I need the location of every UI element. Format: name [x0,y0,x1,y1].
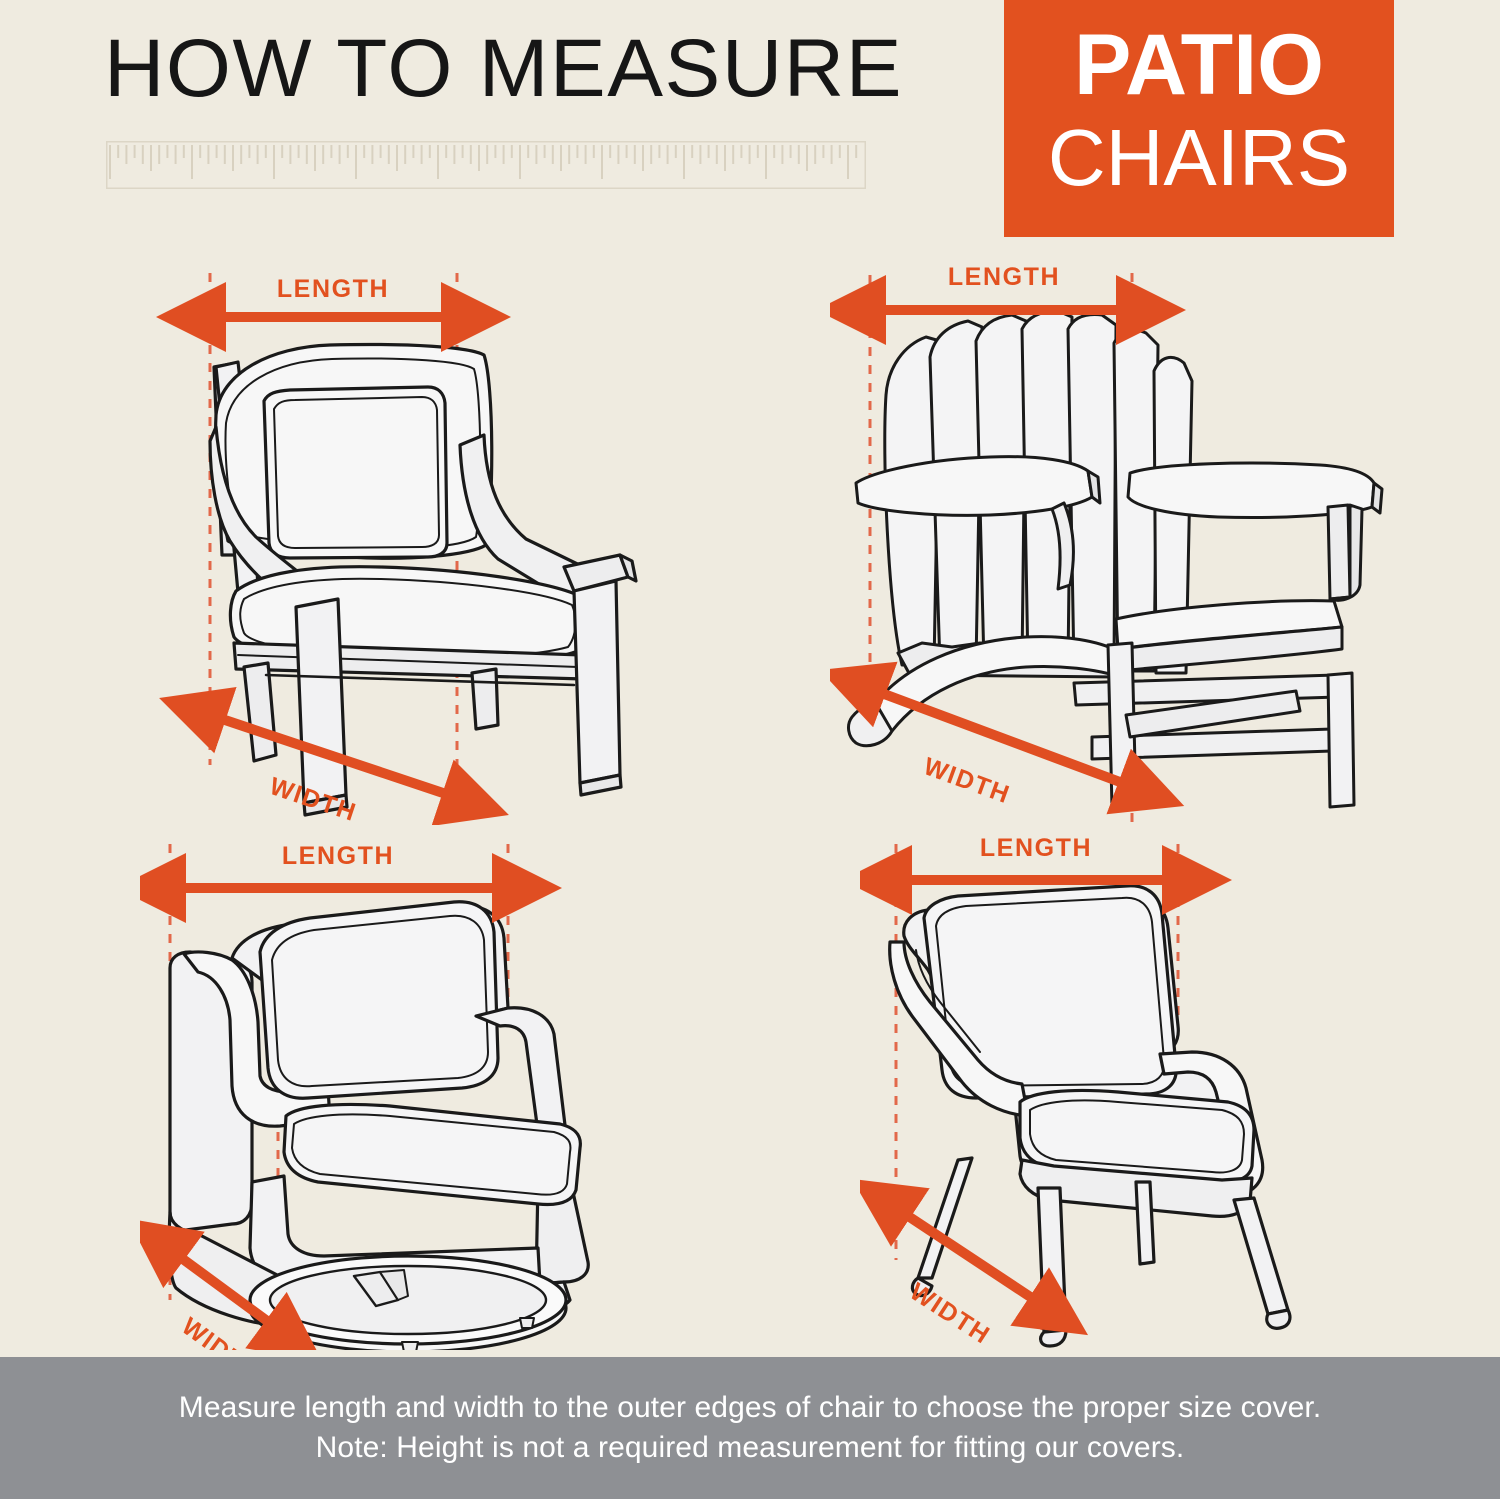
badge-title-secondary: CHAIRS [1004,118,1394,198]
footer-line-2: Note: Height is not a required measureme… [316,1428,1185,1469]
swivel-chair-illustration [169,902,588,1350]
diagram-armchair: LENGTH WIDTH [150,255,670,825]
length-label: LENGTH [948,263,1060,291]
footer-note-bar: Measure length and width to the outer ed… [0,1357,1500,1499]
armchair-illustration [210,344,636,815]
footer-line-1: Measure length and width to the outer ed… [179,1388,1322,1429]
diagram-adirondack-chair: LENGTH WIDTH [830,245,1410,825]
length-label: LENGTH [277,275,389,303]
length-label: LENGTH [282,842,394,870]
badge-title-primary: PATIO [1004,22,1394,108]
lounge-chair-illustration [890,886,1290,1346]
diagram-swivel-chair: LENGTH WIDTH [140,830,660,1350]
page-title: HOW TO MEASURE [104,28,903,110]
category-badge: PATIO CHAIRS [1004,0,1394,237]
length-label: LENGTH [980,834,1092,862]
ruler-icon [106,141,866,189]
diagram-lounge-chair: LENGTH WIDTH [860,830,1360,1350]
width-label: WIDTH [905,1278,996,1350]
adirondack-illustration [849,311,1382,807]
width-label: WIDTH [920,752,1014,809]
